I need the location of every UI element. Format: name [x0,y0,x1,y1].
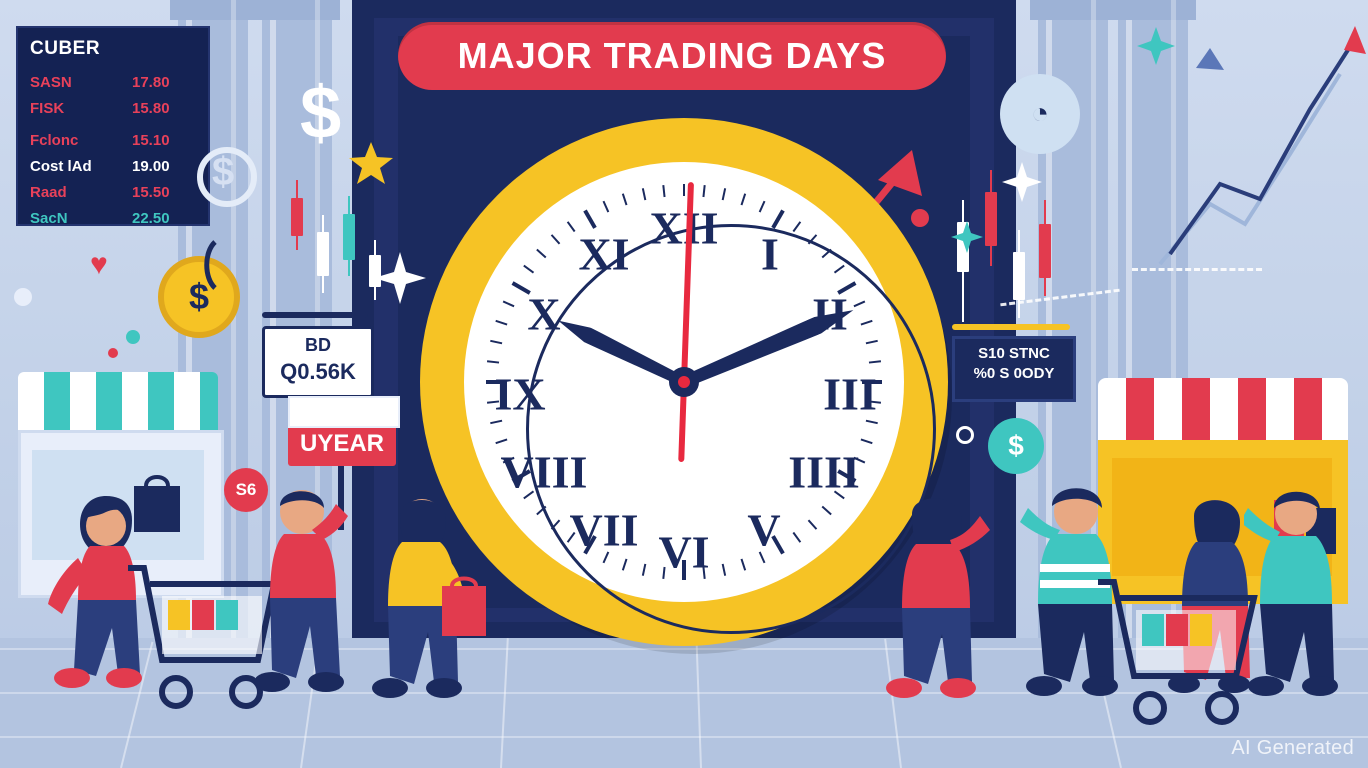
sparkle-icon [1000,160,1044,209]
hanging-sign-left: BD Q0.56K [262,326,374,398]
stock-ticker-board: CUBER SASN 17.80 FISK 15.80 Fclonc 15.10… [16,26,210,226]
hanging-sign-right-line2: %0 S 0ODY [955,365,1073,382]
ticker-value: 15.50 [132,184,170,201]
clock-numeral: XII [649,202,718,255]
ticker-value: 19.00 [132,158,170,175]
clock-numeral: I [761,228,779,281]
ticker-row: Fclonc 15.10 [30,132,202,154]
clock-numeral: VI [658,526,709,579]
clock-numeral: IX [494,368,545,421]
ticker-row: Cost lAd 19.00 [30,158,202,180]
shopping-cart-right [1090,570,1260,750]
heart-icon: ♥ [90,248,108,282]
ticker-value: 15.10 [132,132,170,149]
dot-decor [956,426,974,444]
wall-clock: XII I II III IIII V VI VII VIII IX X XI [420,118,948,646]
clock-numeral: VIII [501,446,588,499]
dashed-guide-line [1132,268,1262,271]
ticker-symbol: FISK [30,100,64,117]
clock-numeral: III [823,368,877,421]
ticker-symbol: Cost lAd [30,158,92,175]
ticker-row: SASN 17.80 [30,74,202,96]
ticker-row: SacN 22.50 [30,210,202,232]
hanging-sign-left-line1: BD [265,335,371,356]
sparkle-icon [372,250,428,311]
clock-numeral: IIII [788,446,860,499]
sign-rod-left [262,312,368,318]
title-banner: MAJOR TRADING DAYS [398,22,946,90]
clock-numeral: VII [569,504,638,557]
ticker-row: FISK 15.80 [30,100,202,122]
ticker-symbol: Fclonc [30,132,78,149]
ticker-value: 15.80 [132,100,170,117]
sparkle-icon [950,220,984,259]
ticker-title: CUBER [30,38,100,60]
star-icon [348,140,394,191]
clock-pivot-dot [678,376,690,388]
clock-numeral: X [527,288,560,341]
ticker-value: 22.50 [132,210,170,227]
coin-circle-icon [196,146,258,208]
ticker-symbol: Raad [30,184,67,201]
sign-hook-icon [200,238,230,318]
shopping-cart-left [118,556,278,736]
clock-face: XII I II III IIII V VI VII VIII IX X XI [464,162,904,602]
ticker-symbol: SASN [30,74,72,91]
dollar-sign-icon: $ [300,70,341,155]
dot-decor [14,288,32,306]
dot-decor [108,348,118,358]
analytics-badge-icon: ◔ [1000,74,1080,154]
currency-badge-icon: $ [988,418,1044,474]
ticker-symbol: SacN [30,210,68,227]
poster-image: CUBER SASN 17.80 FISK 15.80 Fclonc 15.10… [0,0,1368,768]
hanging-sign-right: S10 STNC %0 S 0ODY [952,336,1076,402]
hanging-sign-right-line1: S10 STNC [955,345,1073,362]
placard-left: UYEAR [288,422,396,466]
sparkle-icon [1136,26,1176,71]
ticker-value: 17.80 [132,74,170,91]
clock-numeral: XI [578,228,629,281]
watermark-label: AI Generated [1231,737,1354,760]
clock-numeral: V [747,504,780,557]
ticker-row: Raad 15.50 [30,184,202,206]
dot-decor [126,330,140,344]
hanging-sign-left-line2: Q0.56K [265,359,371,385]
title-banner-text: MAJOR TRADING DAYS [458,35,887,77]
placard-left-top [288,396,400,428]
sign-rod-right [952,324,1070,330]
